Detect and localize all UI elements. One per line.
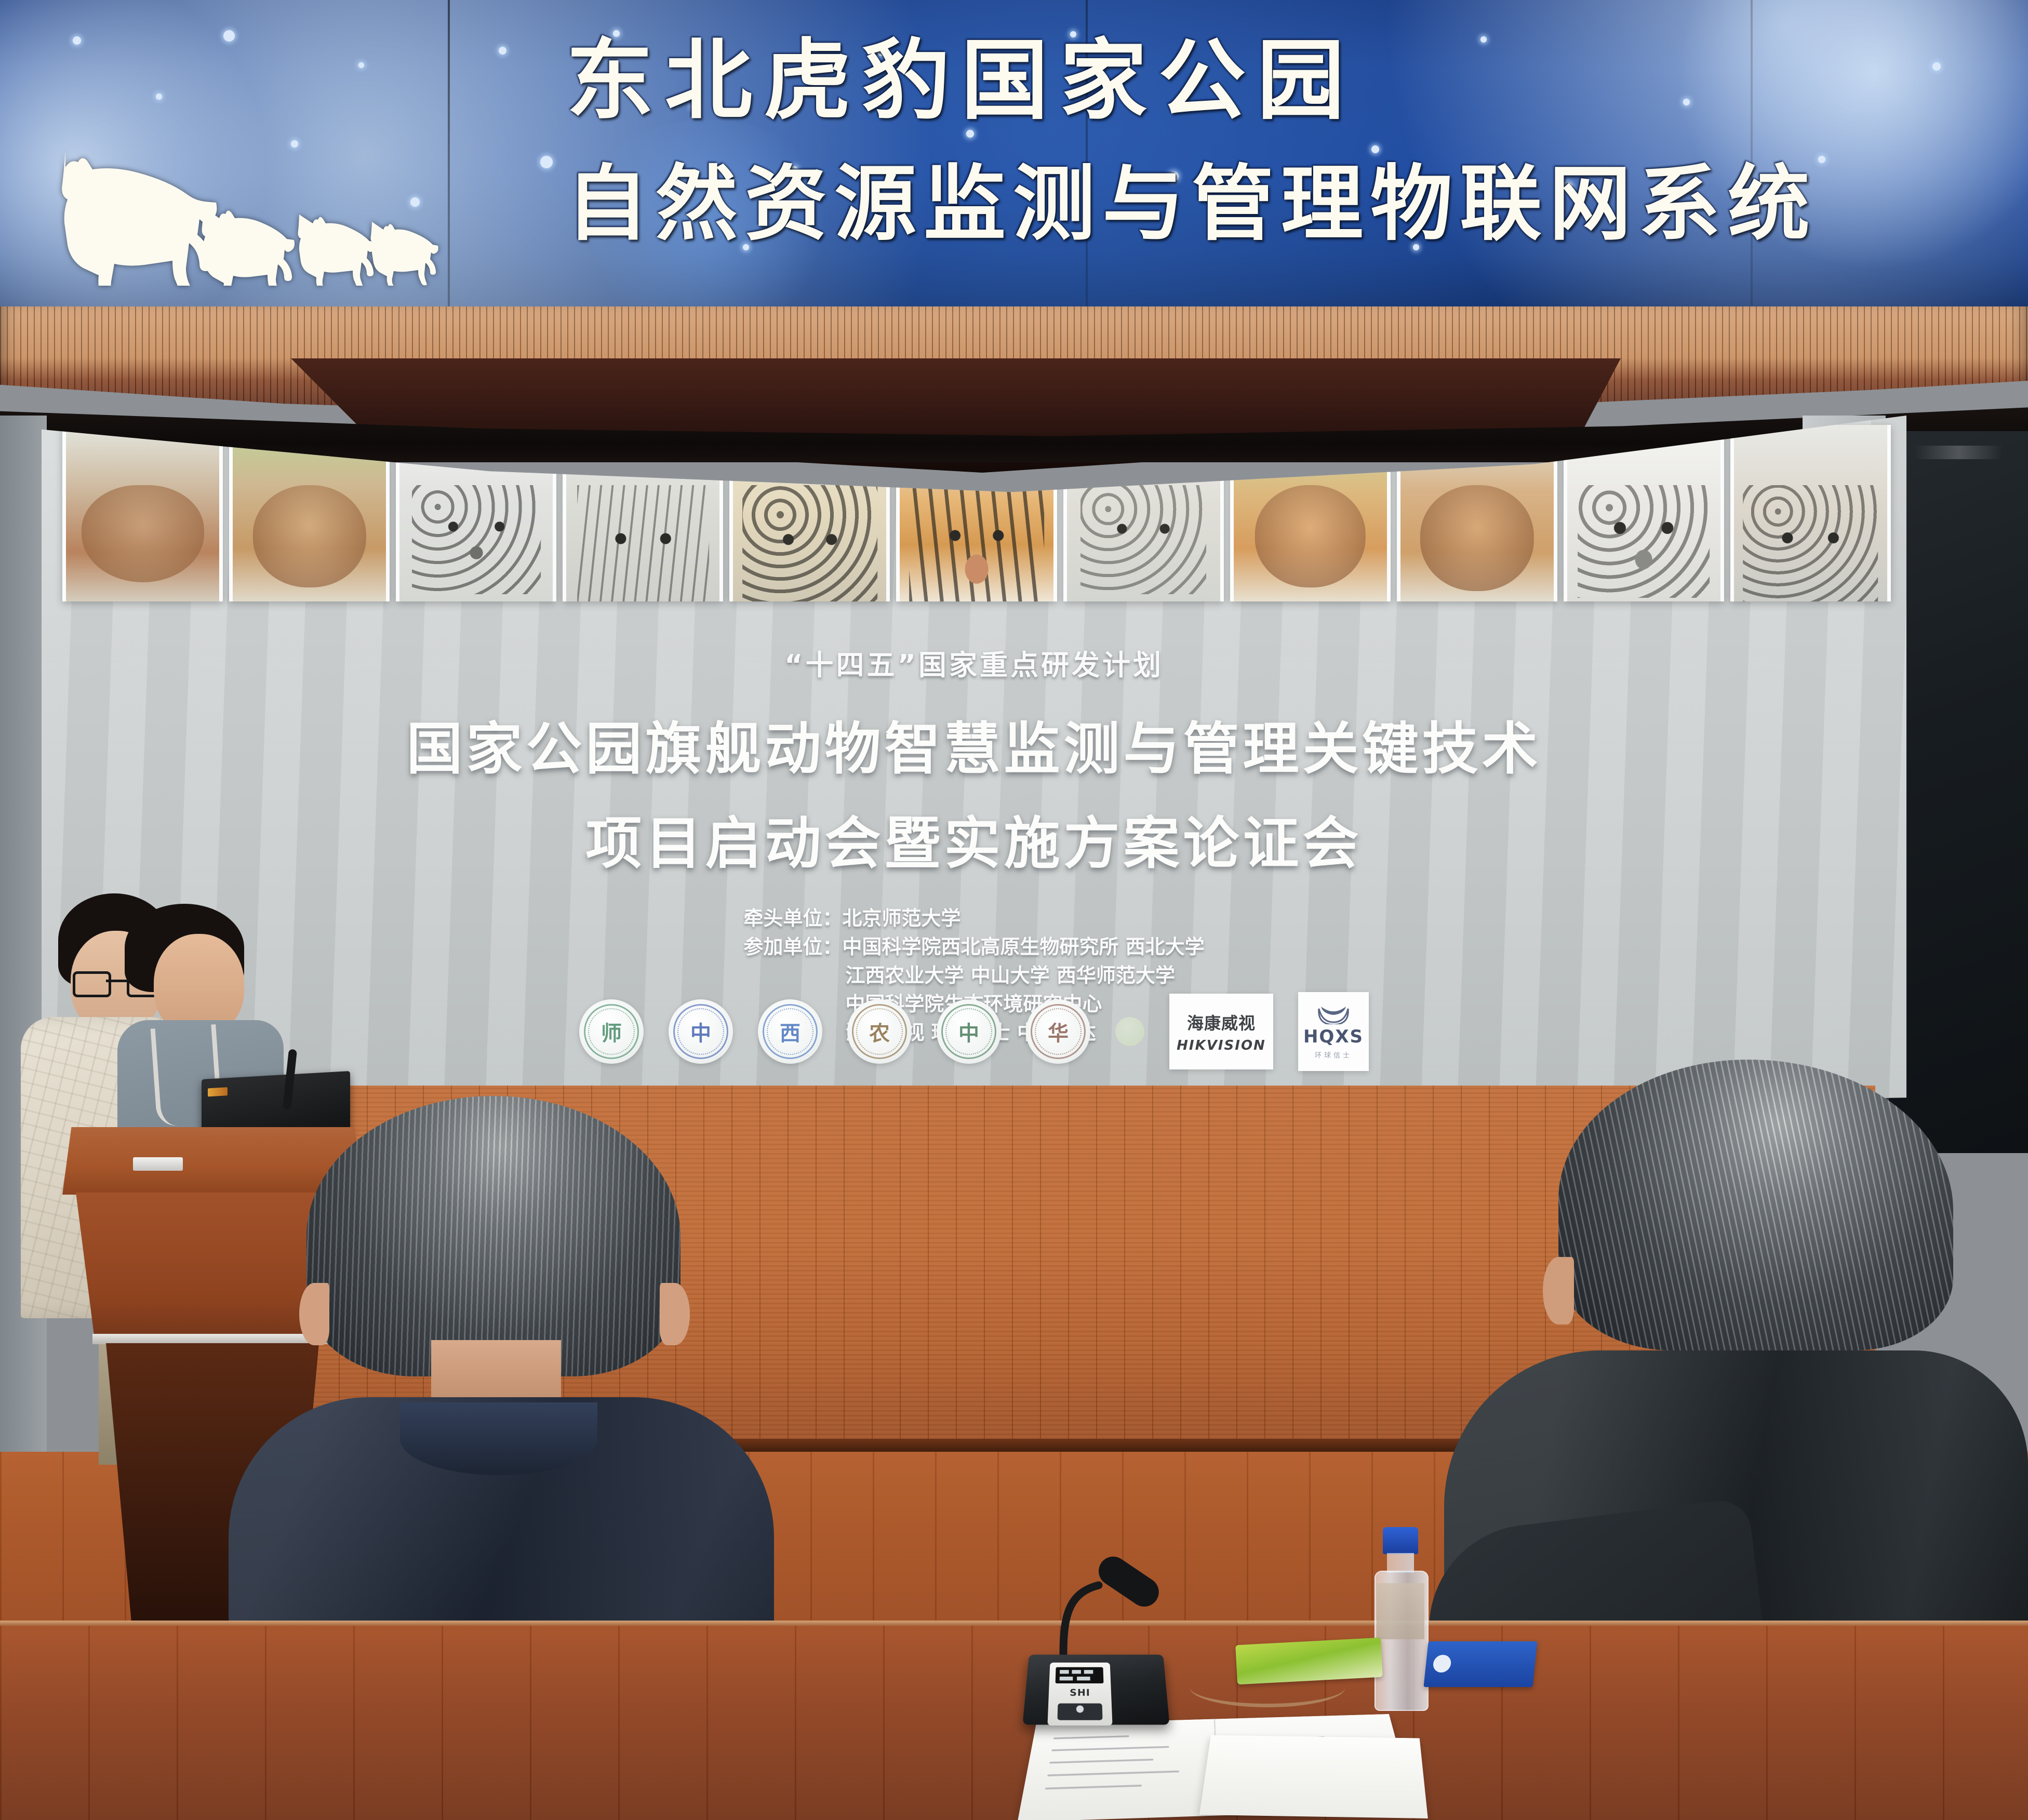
hqxs-logo-sub: 环球信士	[1315, 1050, 1352, 1060]
bnu-seal-logo: 师	[579, 999, 644, 1064]
nwipb-cas-seal-logo: 中	[669, 999, 733, 1064]
jxau-seal-logo: 农	[847, 999, 912, 1064]
green-leaf-logo	[1115, 1017, 1144, 1046]
loose-papers	[1199, 1735, 1428, 1818]
hqxs-logo-text: HQXS	[1303, 1026, 1364, 1047]
banner-title: 东北虎豹国家公园 自然资源监测与管理物联网系统	[566, 25, 2000, 258]
hikvision-logo-en: HIKVISION	[1177, 1038, 1266, 1053]
bottle-label	[1377, 1583, 1424, 1639]
cwnu-seal-logo: 华	[1026, 999, 1090, 1064]
podium-nameplate	[133, 1157, 183, 1171]
jxau-seal-mark: 农	[869, 1016, 890, 1047]
conference-room-photo: 东北虎豹国家公园 自然资源监测与管理物联网系统	[0, 0, 2028, 1820]
partner-org-line2: 江西农业大学 中山大学 西华师范大学	[743, 961, 1204, 990]
partner-org-label: 参加单位：	[743, 935, 842, 958]
mic-gooseneck	[1049, 1552, 1179, 1656]
hqxs-logo: HQXS 环球信士	[1298, 992, 1369, 1071]
mic-talk-button[interactable]	[1057, 1703, 1102, 1720]
projection-screen: “十四五”国家重点研发计划 国家公园旗舰动物智慧监测与管理关键技术 项目启动会暨…	[42, 416, 1906, 1112]
lead-org-value: 北京师范大学	[842, 907, 960, 930]
hikvision-logo-cn: 海康威视	[1187, 1010, 1256, 1034]
blue-card-dot-icon	[1432, 1655, 1452, 1672]
attendee-left-ear-right	[660, 1283, 690, 1345]
attendee-left-ear-left	[299, 1283, 329, 1345]
sysu-seal-logo: 中	[937, 999, 1001, 1064]
lead-org-label: 牵头单位：	[743, 907, 842, 930]
nwu-seal-mark: 西	[780, 1016, 800, 1047]
attendee-right-hair	[1558, 1060, 1953, 1350]
slide-title-line2: 项目启动会暨实施方案论证会	[42, 798, 1906, 879]
conference-table	[0, 1626, 2028, 1820]
slide-title-line1: 国家公园旗舰动物智慧监测与管理关键技术	[42, 704, 1906, 785]
attendee-left-hair	[306, 1096, 681, 1376]
blue-name-card	[1423, 1641, 1537, 1687]
display-glint	[1914, 446, 2003, 459]
sysu-seal-mark: 中	[958, 1016, 979, 1047]
banner-title-line2: 自然资源监测与管理物联网系统	[566, 151, 2000, 258]
tiger-family-silhouette-icon	[47, 145, 462, 286]
cwnu-seal-mark: 华	[1048, 1016, 1069, 1047]
lead-org-row: 牵头单位：北京师范大学	[743, 904, 1204, 933]
mic-cable	[1190, 1667, 1345, 1707]
water-bottle	[1371, 1527, 1430, 1709]
nwipb-seal-mark: 中	[690, 1016, 711, 1047]
mic-brand-label: SHI	[1049, 1688, 1112, 1698]
nwu-seal-logo: 西	[758, 999, 822, 1064]
stage-banner: 东北虎豹国家公园 自然资源监测与管理物联网系统	[0, 0, 2028, 312]
bnu-seal-mark: 师	[601, 1016, 622, 1047]
animal-photo-lynx-2	[1730, 425, 1891, 601]
slide-kicker: “十四五”国家重点研发计划	[42, 642, 1906, 683]
mic-display-screen	[1056, 1667, 1104, 1683]
hikvision-logo: 海康威视 HIKVISION	[1169, 994, 1273, 1069]
slide-content: “十四五”国家重点研发计划 国家公园旗舰动物智慧监测与管理关键技术 项目启动会暨…	[42, 608, 1906, 1112]
partner-org-line1: 中国科学院西北高原生物研究所 西北大学	[842, 935, 1204, 958]
banner-title-line1: 东北虎豹国家公园	[566, 25, 2000, 137]
conference-microphone: SHI	[1026, 1621, 1166, 1724]
animal-photo-golden-monkey	[62, 425, 223, 601]
attendee-right-ear	[1543, 1257, 1574, 1324]
bottle-neck	[1387, 1553, 1414, 1573]
laptop-sticker	[208, 1087, 228, 1096]
bottle-cap	[1383, 1527, 1418, 1554]
hqxs-bird-icon	[1317, 1003, 1350, 1024]
attendee-left-collar	[400, 1402, 597, 1475]
mic-control-panel[interactable]: SHI	[1047, 1663, 1112, 1725]
partner-org-row: 参加单位：中国科学院西北高原生物研究所 西北大学	[743, 933, 1204, 961]
wall-mounted-display	[1886, 431, 2028, 1153]
